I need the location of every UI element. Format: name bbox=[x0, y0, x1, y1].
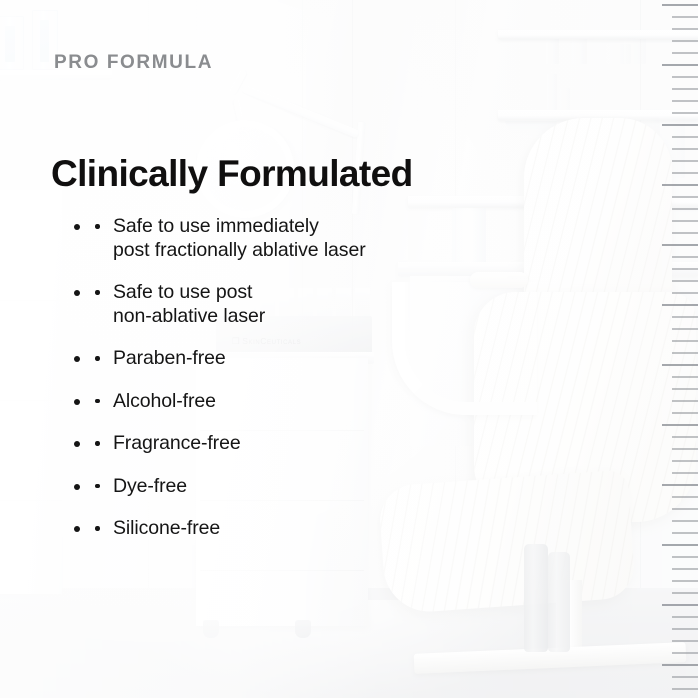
bullet-dot-icon bbox=[95, 399, 100, 404]
list-item: Paraben-free bbox=[92, 347, 492, 371]
ruler-tick-major bbox=[662, 184, 698, 186]
ruler-tick-minor bbox=[672, 40, 698, 42]
ruler-tick-minor bbox=[672, 496, 698, 498]
list-item: Alcohol-free bbox=[92, 390, 492, 414]
ruler-tick-minor bbox=[672, 160, 698, 162]
ruler-tick-minor bbox=[672, 220, 698, 222]
ruler-tick-minor bbox=[672, 412, 698, 414]
list-item-line: Alcohol-free bbox=[113, 390, 216, 412]
ruler-tick-minor bbox=[672, 616, 698, 618]
ruler-tick-minor bbox=[672, 436, 698, 438]
bullet-dot-icon bbox=[95, 441, 100, 446]
list-item: Silicone-free bbox=[92, 517, 492, 541]
list-item-line: Safe to use post bbox=[113, 281, 252, 303]
ruler-tick-minor bbox=[672, 280, 698, 282]
ruler-tick-minor bbox=[672, 400, 698, 402]
ruler-tick-minor bbox=[672, 448, 698, 450]
ruler-tick-minor bbox=[672, 28, 698, 30]
ruler-tick-major bbox=[662, 64, 698, 66]
ruler-tick-minor bbox=[672, 460, 698, 462]
ruler-tick-minor bbox=[672, 328, 698, 330]
ruler-tick-minor bbox=[672, 52, 698, 54]
list-item: Safe to use postnon-ablative laser bbox=[92, 281, 492, 328]
ruler-tick-minor bbox=[672, 376, 698, 378]
ruler-tick-minor bbox=[672, 388, 698, 390]
benefits-list: Safe to use immediatelypost fractionally… bbox=[52, 215, 492, 560]
ruler-tick-minor bbox=[672, 640, 698, 642]
list-item: Safe to use immediatelypost fractionally… bbox=[92, 215, 492, 262]
ruler-tick-minor bbox=[672, 292, 698, 294]
eyebrow-label: PRO FORMULA bbox=[54, 52, 213, 74]
list-item-line: post fractionally ablative laser bbox=[113, 239, 492, 263]
promo-graphic: ❒SkinCeuticals PRO FORMULA Clinically Fo… bbox=[0, 0, 698, 698]
ruler-tick-minor bbox=[672, 676, 698, 678]
ruler-tick-minor bbox=[672, 268, 698, 270]
ruler-tick-minor bbox=[672, 316, 698, 318]
ruler-tick-minor bbox=[672, 532, 698, 534]
list-item-line: Safe to use immediately bbox=[113, 215, 319, 237]
list-item-line: Fragrance-free bbox=[113, 432, 241, 454]
ruler-tick-major bbox=[662, 124, 698, 126]
bullet-dot-icon bbox=[95, 484, 100, 489]
list-item: Dye-free bbox=[92, 475, 492, 499]
ruler-tick-minor bbox=[672, 340, 698, 342]
ruler-tick-minor bbox=[672, 112, 698, 114]
ruler-tick-minor bbox=[672, 556, 698, 558]
ruler-tick-minor bbox=[672, 88, 698, 90]
page-title: Clinically Formulated bbox=[51, 153, 413, 195]
ruler-tick-minor bbox=[672, 628, 698, 630]
ruler-tick-major bbox=[662, 544, 698, 546]
ruler-tick-major bbox=[662, 4, 698, 6]
ruler-tick-minor bbox=[672, 136, 698, 138]
list-item-line: non-ablative laser bbox=[113, 305, 492, 329]
ruler-tick-minor bbox=[672, 16, 698, 18]
ruler-tick-major bbox=[662, 424, 698, 426]
bullet-dot-icon bbox=[95, 526, 100, 531]
ruler-tick-minor bbox=[672, 76, 698, 78]
ruler-tick-minor bbox=[672, 256, 698, 258]
bullet-dot-icon bbox=[95, 290, 100, 295]
ruler-tick-minor bbox=[672, 352, 698, 354]
ruler-tick-major bbox=[662, 244, 698, 246]
ruler-tick-minor bbox=[672, 592, 698, 594]
ruler-tick-major bbox=[662, 304, 698, 306]
ruler-tick-major bbox=[662, 664, 698, 666]
ruler-tick-minor bbox=[672, 688, 698, 690]
ruler-tick-minor bbox=[672, 148, 698, 150]
ruler-tick-minor bbox=[672, 208, 698, 210]
bullet-dot-icon bbox=[95, 356, 100, 361]
ruler-tick-major bbox=[662, 364, 698, 366]
list-item: Fragrance-free bbox=[92, 432, 492, 456]
ruler-tick-major bbox=[662, 484, 698, 486]
ruler-tick-minor bbox=[672, 172, 698, 174]
ruler-tick-minor bbox=[672, 520, 698, 522]
bullet-dot-icon bbox=[95, 224, 100, 229]
ruler-tick-minor bbox=[672, 508, 698, 510]
ruler-tick-minor bbox=[672, 568, 698, 570]
list-item-line: Paraben-free bbox=[113, 347, 226, 369]
ruler-tick-major bbox=[662, 604, 698, 606]
ruler-tick-minor bbox=[672, 100, 698, 102]
ruler-tick-minor bbox=[672, 580, 698, 582]
list-item-line: Silicone-free bbox=[113, 517, 220, 539]
ruler-tick-minor bbox=[672, 232, 698, 234]
measurement-ruler bbox=[658, 0, 698, 698]
ruler-tick-minor bbox=[672, 652, 698, 654]
ruler-tick-minor bbox=[672, 472, 698, 474]
ruler-tick-minor bbox=[672, 196, 698, 198]
list-item-line: Dye-free bbox=[113, 475, 187, 497]
